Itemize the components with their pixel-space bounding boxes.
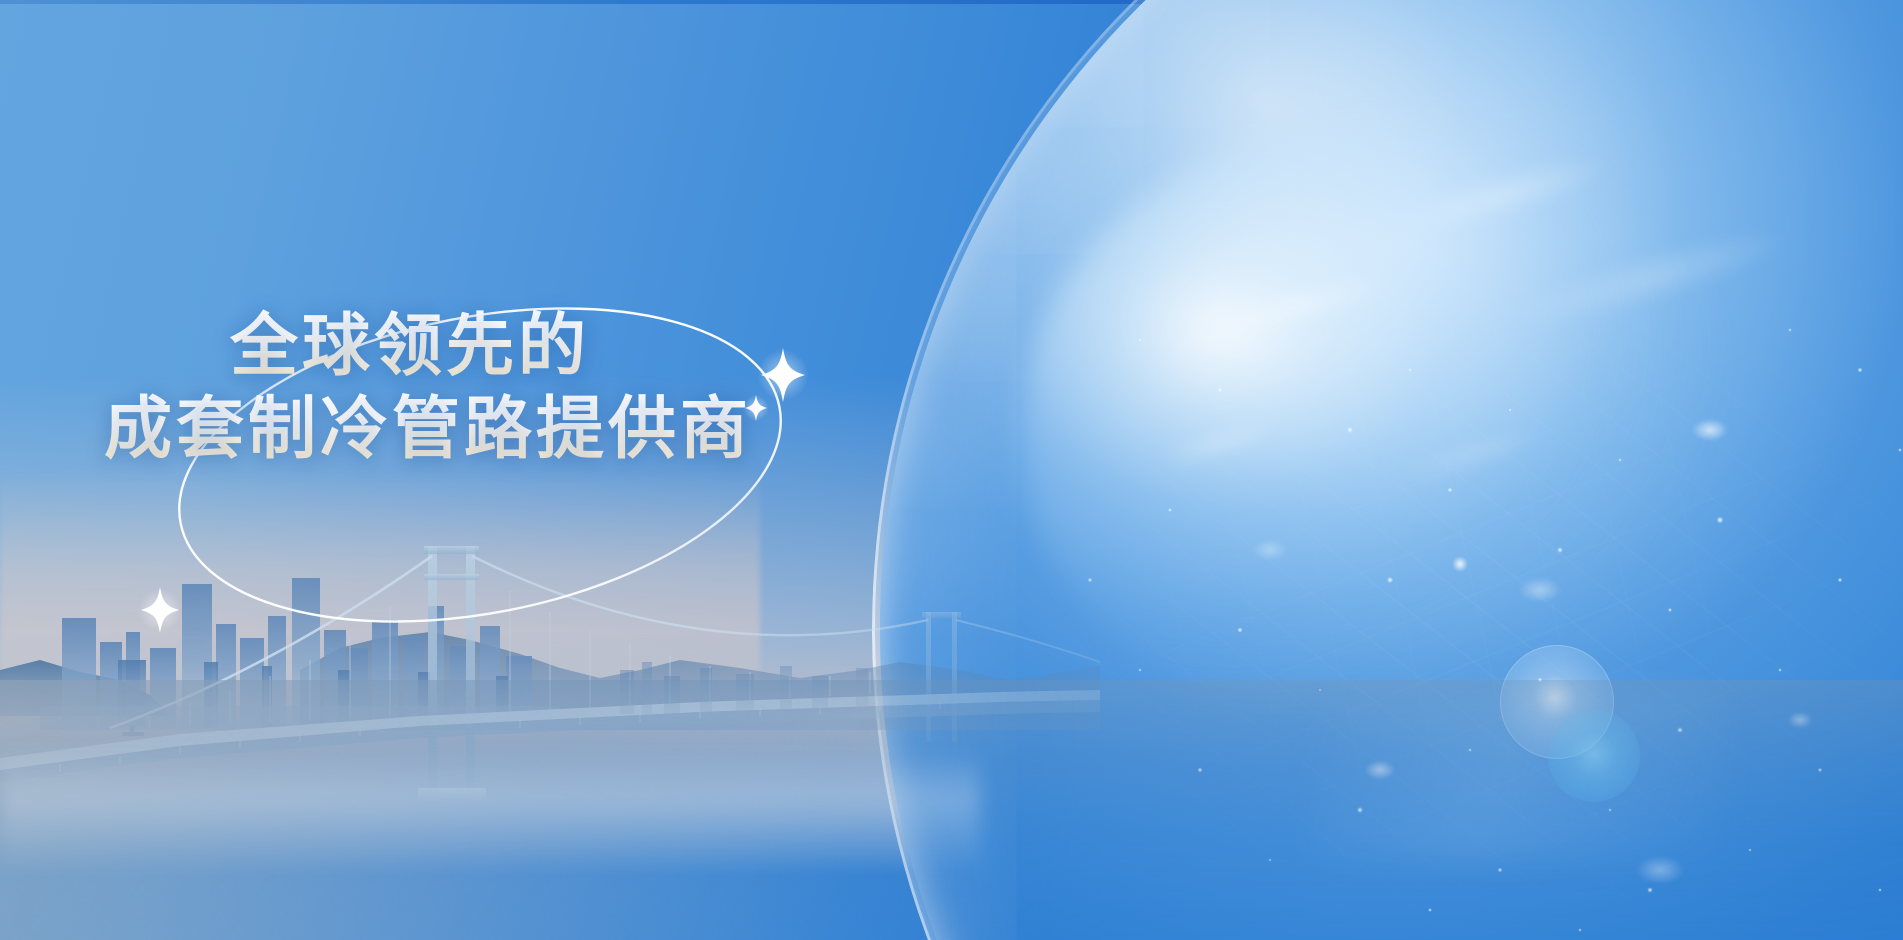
headline-line-1: 全球领先的 (104, 305, 804, 388)
page-title: 全球领先的 成套制冷管路提供商 (104, 305, 804, 471)
headline-line-2: 成套制冷管路提供商 (104, 388, 804, 471)
hero-banner: 全球领先的 成套制冷管路提供商 (0, 0, 1903, 940)
harbor-water (0, 680, 1903, 940)
